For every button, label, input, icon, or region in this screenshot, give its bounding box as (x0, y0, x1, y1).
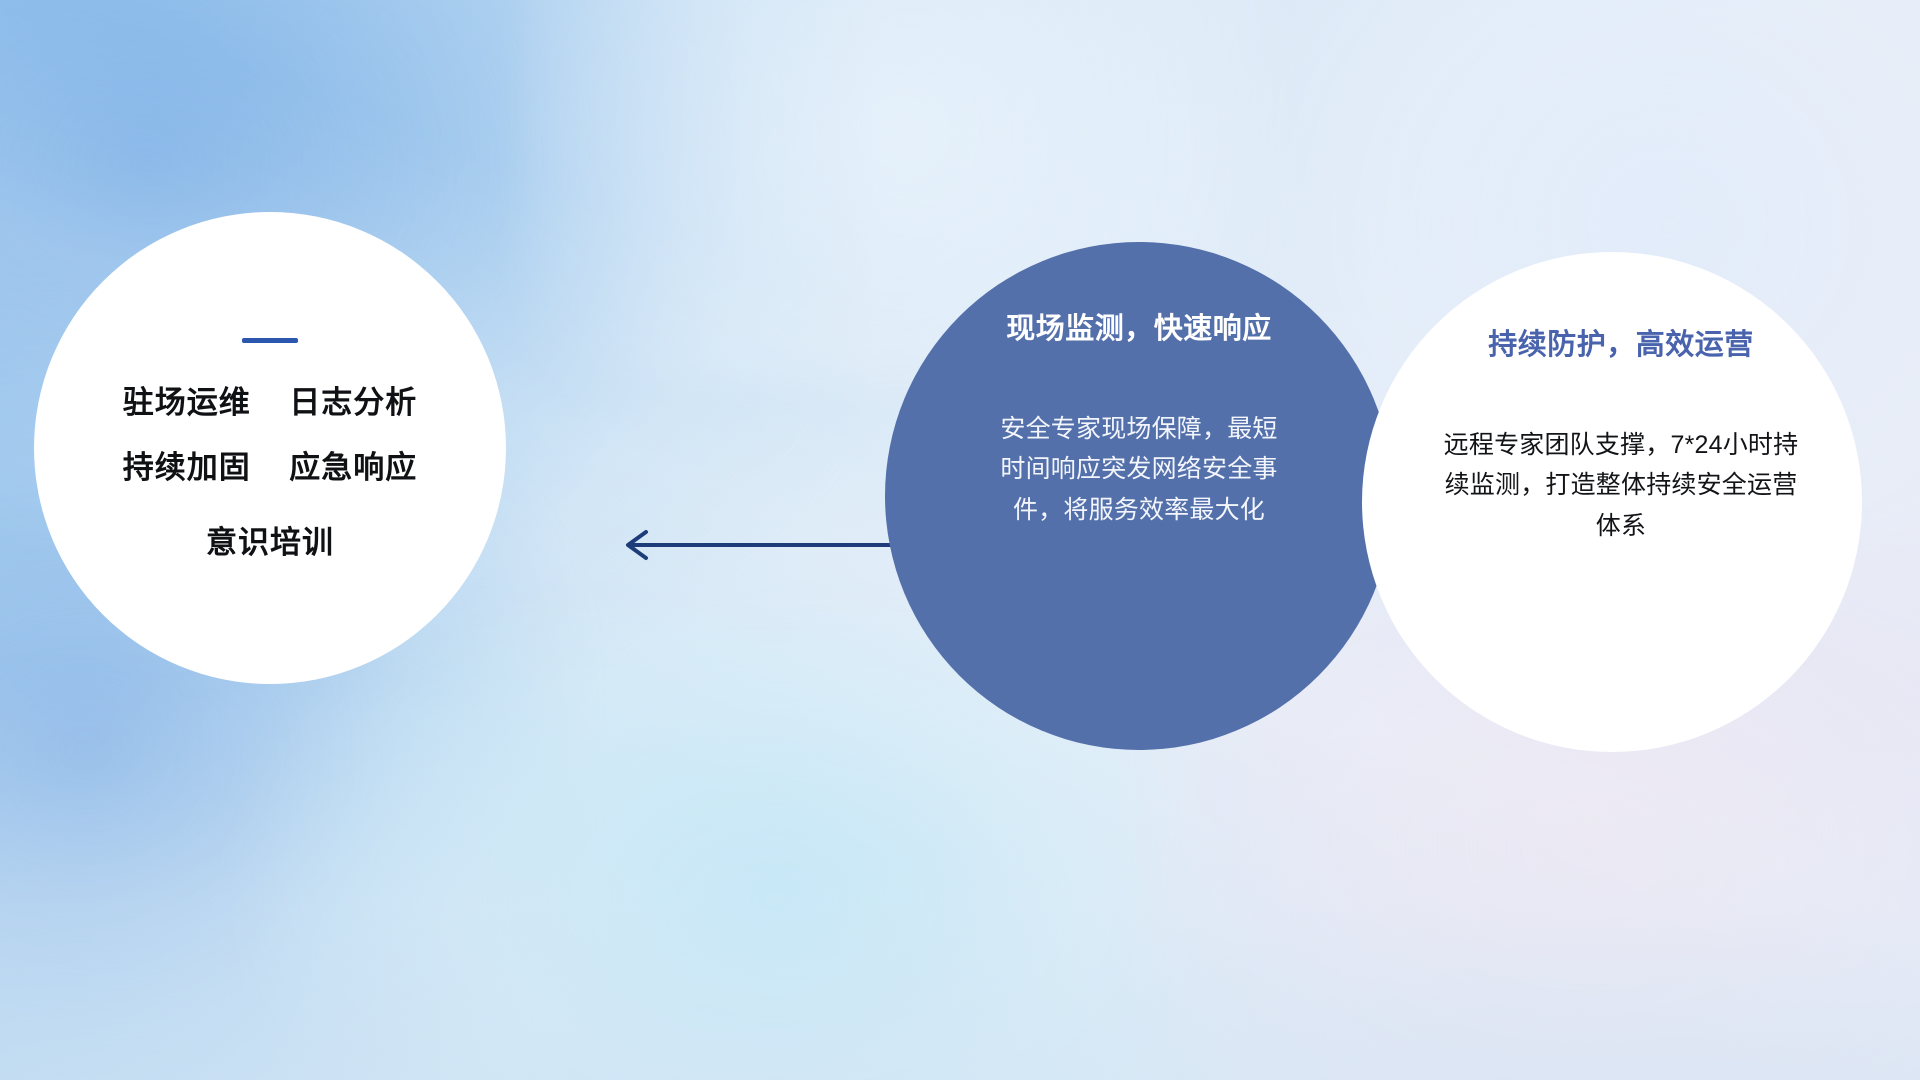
right-circle-content: 持续防护，高效运营 远程专家团队支撑，7*24小时持续监测，打造整体持续安全运营… (1362, 252, 1862, 752)
arrow-left-icon (612, 524, 902, 566)
left-circle-content: 驻场运维 日志分析 持续加固 应急响应 意识培训 (34, 212, 506, 684)
left-circle-line-1: 驻场运维 日志分析 (123, 387, 417, 418)
slide-canvas: 驻场运维 日志分析 持续加固 应急响应 意识培训 现场监测，快速响应 安全专家现… (0, 0, 1920, 1080)
capability-circle-middle[interactable]: 现场监测，快速响应 安全专家现场保障，最短时间响应突发网络安全事件，将服务效率最… (885, 242, 1393, 750)
right-circle-body: 远程专家团队支撑，7*24小时持续监测，打造整体持续安全运营体系 (1441, 425, 1801, 547)
middle-circle-body: 安全专家现场保障，最短时间响应突发网络安全事件，将服务效率最大化 (989, 409, 1289, 531)
flow-arrow-left (612, 524, 902, 566)
capability-circle-right[interactable]: 持续防护，高效运营 远程专家团队支撑，7*24小时持续监测，打造整体持续安全运营… (1362, 252, 1862, 752)
middle-circle-title: 现场监测，快速响应 (1006, 312, 1272, 347)
middle-circle-content: 现场监测，快速响应 安全专家现场保障，最短时间响应突发网络安全事件，将服务效率最… (885, 242, 1393, 750)
left-circle-line-2: 持续加固 应急响应 (123, 452, 417, 483)
capability-circle-left[interactable]: 驻场运维 日志分析 持续加固 应急响应 意识培训 (34, 212, 506, 684)
left-circle-divider (242, 338, 298, 343)
left-circle-line-3: 意识培训 (206, 527, 334, 558)
right-circle-title: 持续防护，高效运营 (1488, 328, 1754, 363)
